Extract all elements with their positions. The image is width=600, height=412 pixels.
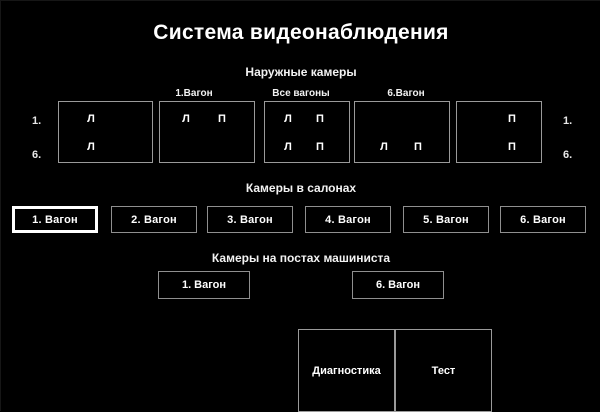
outer-column-label-car6: 6.Вагон (371, 88, 441, 99)
diagnostics-button[interactable]: Диагностика (298, 329, 395, 412)
camera-indicator-1-top-0: Л (180, 113, 192, 125)
driver-camera-button-6[interactable]: 6. Вагон (352, 271, 444, 299)
outer-camera-box-1[interactable]: ЛП (159, 101, 255, 163)
camera-indicator-1-top-1: П (216, 113, 228, 125)
salon-camera-button-3[interactable]: 3. Вагон (207, 206, 293, 233)
row-label-left-6: 6. (32, 149, 41, 161)
video-surveillance-screen: Система видеонаблюдения Наружные камеры … (0, 0, 600, 411)
camera-indicator-3-bottom-1: П (412, 141, 424, 153)
outer-camera-box-3[interactable]: ЛП (354, 101, 450, 163)
section-title-outer-cameras: Наружные камеры (1, 65, 600, 79)
outer-camera-box-0[interactable]: ЛЛ (58, 101, 153, 163)
section-title-driver-cameras: Камеры на постах машиниста (1, 251, 600, 265)
camera-indicator-2-top-1: П (314, 113, 326, 125)
salon-camera-button-6[interactable]: 6. Вагон (500, 206, 586, 233)
outer-camera-box-4[interactable]: ПП (456, 101, 542, 163)
camera-indicator-2-bottom-1: П (314, 141, 326, 153)
salon-camera-button-5[interactable]: 5. Вагон (403, 206, 489, 233)
section-title-salon-cameras: Камеры в салонах (1, 181, 600, 195)
page-title: Система видеонаблюдения (1, 21, 600, 45)
row-label-left-1: 1. (32, 115, 41, 127)
camera-indicator-2-top-0: Л (282, 113, 294, 125)
row-label-right-6: 6. (563, 149, 572, 161)
outer-column-label-all-cars: Все вагоны (259, 88, 343, 99)
camera-indicator-0-top-0: Л (85, 113, 97, 125)
camera-indicator-4-top-0: П (506, 113, 518, 125)
camera-indicator-0-bottom-0: Л (85, 141, 97, 153)
salon-camera-button-4[interactable]: 4. Вагон (305, 206, 391, 233)
salon-camera-button-1[interactable]: 1. Вагон (12, 206, 98, 233)
camera-indicator-4-bottom-0: П (506, 141, 518, 153)
camera-indicator-2-bottom-0: Л (282, 141, 294, 153)
row-label-right-1: 1. (563, 115, 572, 127)
driver-camera-button-1[interactable]: 1. Вагон (158, 271, 250, 299)
salon-camera-button-2[interactable]: 2. Вагон (111, 206, 197, 233)
outer-camera-box-2[interactable]: ЛПЛП (264, 101, 350, 163)
camera-indicator-3-bottom-0: Л (378, 141, 390, 153)
test-button[interactable]: Тест (395, 329, 492, 412)
outer-column-label-car1: 1.Вагон (159, 88, 229, 99)
